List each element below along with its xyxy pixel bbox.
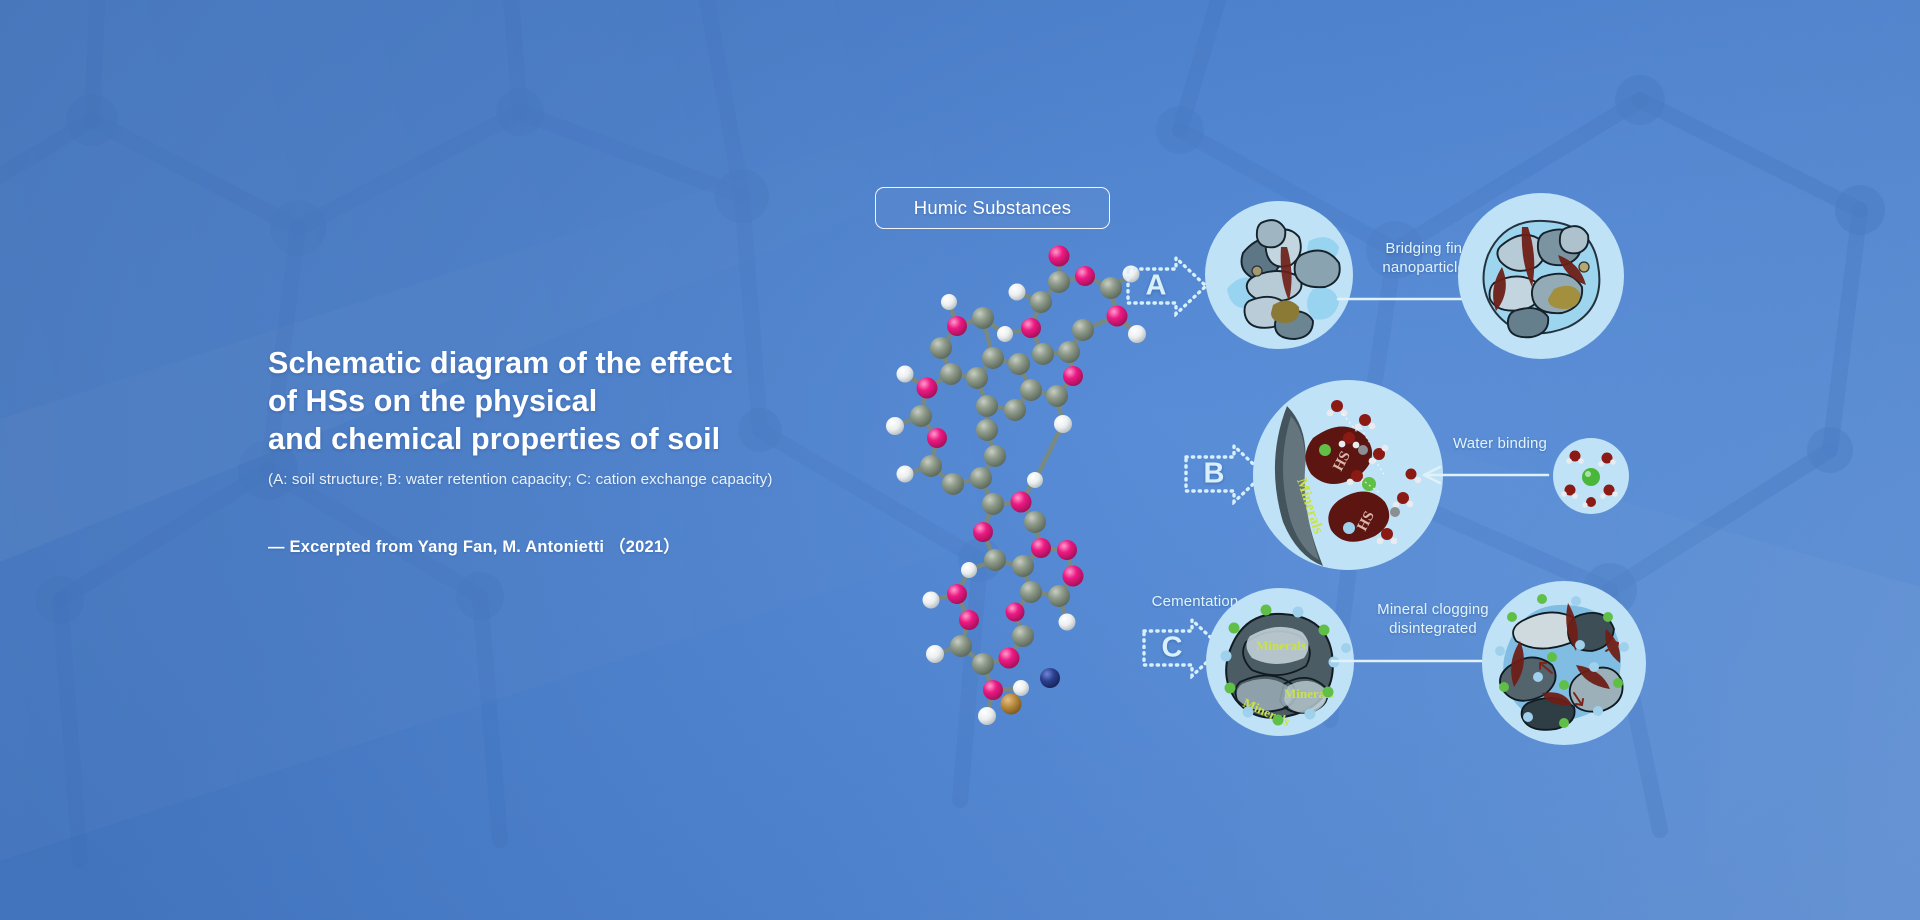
stage-arrow-b-letter: B (1194, 460, 1234, 489)
bubble-hydrated-cation (1553, 438, 1629, 514)
stage-arrow-a: A (1124, 255, 1210, 317)
poster-canvas: Schematic diagram of the effect of HSs o… (0, 0, 1920, 920)
bubble-mineral-disintegrated-aggregate (1482, 581, 1646, 745)
source-attribution: — Excerpted from Yang Fan, M. Antonietti… (268, 533, 908, 557)
page-title: Schematic diagram of the effect of HSs o… (268, 344, 908, 458)
stage-arrow-c-letter: C (1152, 634, 1192, 663)
bubble-soil-aggregates-bridged (1458, 193, 1624, 359)
bubble-c-minerals-label-1: Minerals (1256, 638, 1306, 653)
page-subtitle: (A: soil structure; B: water retention c… (268, 471, 908, 488)
humic-substances-label-text: Humic Substances (914, 197, 1071, 219)
bubble-hs-mineral-water: HS HS Minerals (1253, 380, 1443, 570)
flow-label-water-binding: Water binding (1425, 434, 1575, 453)
bubble-soil-aggregates-loose (1205, 201, 1353, 349)
headline-block: Schematic diagram of the effect of HSs o… (268, 344, 908, 557)
humic-substances-label: Humic Substances (875, 187, 1110, 229)
flow-arrow-water-binding (1420, 464, 1550, 486)
stage-arrow-a-letter: A (1136, 272, 1176, 301)
